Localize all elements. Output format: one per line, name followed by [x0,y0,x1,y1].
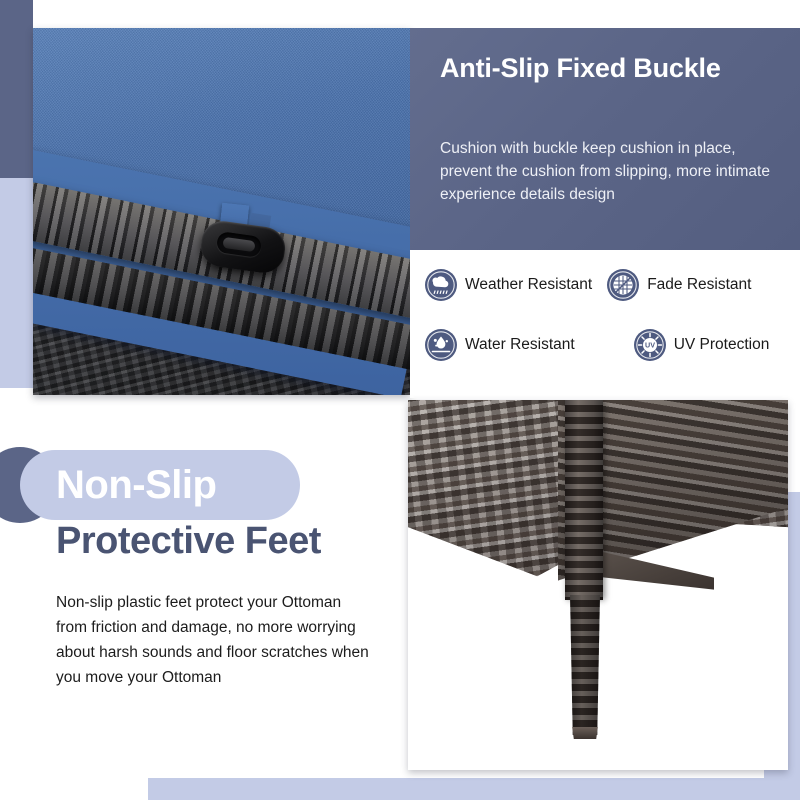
anti-slip-description: Cushion with buckle keep cushion in plac… [440,138,788,207]
badge-uv-protection: UV UV Protection [633,328,770,362]
non-slip-pill-text: Non-Slip [56,452,336,518]
badge-label: Water Resistant [465,336,575,354]
badge-label: Fade Resistant [647,276,751,294]
foot-tip [571,727,599,739]
svg-text:UV: UV [645,341,655,350]
cloud-rain-sun-icon [424,268,458,302]
wicker-brace [594,550,714,610]
water-droplets-icon [424,328,458,362]
badge-fade-resistant: Fade Resistant [606,268,751,302]
badge-water-resistant: Water Resistant [424,328,575,362]
badge-row-top: Weather Resistant [424,268,751,302]
uv-sun-icon: UV [633,328,667,362]
anti-slip-title: Anti-Slip Fixed Buckle [440,52,770,86]
protective-feet-description: Non-slip plastic feet protect your Ottom… [56,590,376,690]
buckle-detail-photo [33,28,410,395]
anti-slip-info-panel: Anti-Slip Fixed Buckle Cushion with buck… [410,28,800,250]
fade-grid-icon [606,268,640,302]
feature-badge-strip: Weather Resistant [410,250,800,398]
protective-feet-title: Protective Feet [56,520,456,563]
badge-label: UV Protection [674,336,770,354]
infographic-canvas: Anti-Slip Fixed Buckle Cushion with buck… [0,0,800,800]
decor-band-bottom [148,778,800,800]
badge-row-bottom: Water Resistant [424,328,769,362]
badge-weather-resistant: Weather Resistant [424,268,592,302]
decor-band-top-left-light [0,178,33,388]
protective-foot-photo [408,400,788,770]
badge-label: Weather Resistant [465,276,592,294]
protective-foot [568,595,602,735]
decor-band-top-left-dark [0,0,33,178]
corner-post [565,400,603,600]
